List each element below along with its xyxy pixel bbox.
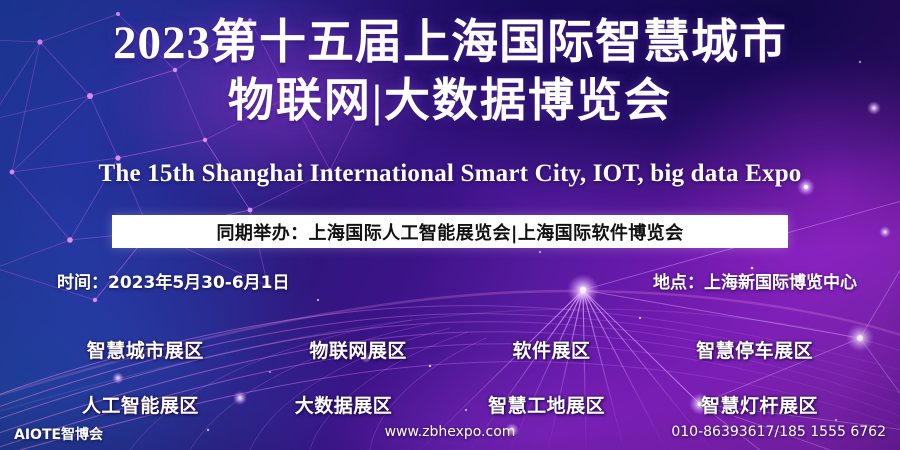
zone-software: 软件展区 <box>513 336 591 363</box>
zone-smart-site: 智慧工地展区 <box>488 391 605 418</box>
concurrent-events-banner: 同期举办：上海国际人工智能展览会|上海国际软件博览会 <box>112 215 788 248</box>
exhibition-zones: 智慧城市展区 物联网展区 软件展区 智慧停车展区 人工智能展区 大数据展区 智慧… <box>0 322 900 432</box>
title-line-2: 物联网|大数据博览会 <box>0 72 900 130</box>
zone-smart-city: 智慧城市展区 <box>87 336 204 363</box>
concurrent-events-text: 同期举办：上海国际人工智能展览会|上海国际软件博览会 <box>217 219 684 245</box>
english-subtitle: The 15th Shanghai International Smart Ci… <box>0 158 900 190</box>
poster-footer: AIOTE智博会 www.zbhexpo.com 010-86393617/18… <box>0 424 900 444</box>
poster-title: 2023第十五届上海国际智慧城市 物联网|大数据博览会 <box>0 14 900 130</box>
poster-content: 2023第十五届上海国际智慧城市 物联网|大数据博览会 The 15th Sha… <box>0 0 900 450</box>
footer-phone[interactable]: 010-86393617/185 1555 6762 <box>671 424 886 440</box>
event-venue: 地点：上海新国际博览中心 <box>653 268 857 293</box>
expo-poster: 2023第十五届上海国际智慧城市 物联网|大数据博览会 The 15th Sha… <box>0 0 900 450</box>
zone-big-data: 大数据展区 <box>295 391 393 418</box>
zone-smart-parking: 智慧停车展区 <box>696 336 813 363</box>
title-line-1: 2023第十五届上海国际智慧城市 <box>0 14 900 72</box>
zone-iot: 物联网展区 <box>309 336 407 363</box>
zone-ai: 人工智能展区 <box>82 391 199 418</box>
zone-smart-lamp-pole: 智慧灯杆展区 <box>701 391 818 418</box>
event-date: 时间：2023年5月30-6月1日 <box>57 268 290 293</box>
zone-row-1: 智慧城市展区 物联网展区 软件展区 智慧停车展区 <box>0 322 900 377</box>
event-meta-row: 时间：2023年5月30-6月1日 地点：上海新国际博览中心 <box>0 268 900 292</box>
